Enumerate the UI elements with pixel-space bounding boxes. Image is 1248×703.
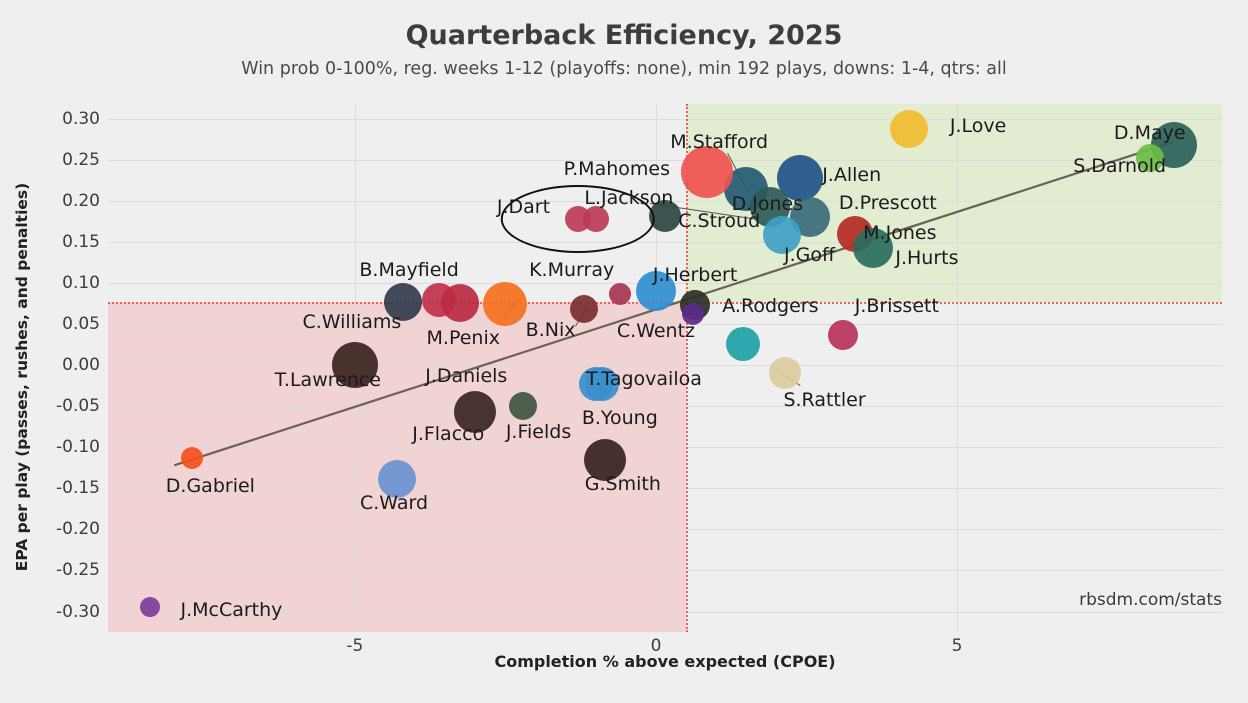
scatter-point[interactable] <box>140 597 160 617</box>
y-tick-label: -0.25 <box>20 560 100 580</box>
scatter-point[interactable] <box>378 460 416 498</box>
scatter-point[interactable] <box>636 271 676 311</box>
plot-area: J.LoveD.MayeS.DarnoldM.StaffordJ.AllenP.… <box>108 104 1222 632</box>
scatter-point[interactable] <box>682 303 704 325</box>
scatter-point[interactable] <box>726 327 760 361</box>
x-tick-label: 5 <box>952 636 963 656</box>
scatter-point[interactable] <box>384 283 422 321</box>
scatter-point[interactable] <box>769 357 801 389</box>
chart-root: Quarterback Efficiency, 2025 Win prob 0-… <box>0 0 1248 703</box>
chart-title: Quarterback Efficiency, 2025 <box>0 20 1248 51</box>
scatter-point[interactable] <box>441 284 479 322</box>
scatter-point[interactable] <box>609 283 631 305</box>
y-tick-label: -0.10 <box>20 437 100 457</box>
y-tick-label: -0.05 <box>20 396 100 416</box>
scatter-point[interactable] <box>570 295 598 323</box>
y-tick-label: 0.00 <box>20 355 100 375</box>
x-tick-label: -5 <box>346 636 363 656</box>
scatter-point[interactable] <box>579 367 613 401</box>
y-tick-label: -0.15 <box>20 478 100 498</box>
y-tick-label: -0.20 <box>20 519 100 539</box>
scatter-point[interactable] <box>584 439 626 481</box>
y-tick-label: 0.05 <box>20 314 100 334</box>
scatter-point[interactable] <box>681 146 733 198</box>
scatter-point[interactable] <box>828 320 858 350</box>
scatter-point[interactable] <box>763 216 801 254</box>
x-axis-label: Completion % above expected (CPOE) <box>108 652 1222 671</box>
scatter-point[interactable] <box>853 228 893 268</box>
chart-subtitle: Win prob 0-100%, reg. weeks 1-12 (playof… <box>0 59 1248 79</box>
watermark: rbsdm.com/stats <box>1079 590 1222 610</box>
y-tick-label: 0.30 <box>20 109 100 129</box>
scatter-point[interactable] <box>332 342 378 388</box>
y-tick-label: 0.15 <box>20 232 100 252</box>
scatter-point[interactable] <box>181 447 203 469</box>
scatter-point[interactable] <box>1136 144 1164 172</box>
y-tick-label: -0.30 <box>20 602 100 622</box>
y-tick-label: 0.25 <box>20 150 100 170</box>
scatter-point[interactable] <box>509 392 537 420</box>
scatter-point[interactable] <box>483 282 527 326</box>
trend-line <box>108 104 1222 632</box>
y-tick-label: 0.10 <box>20 273 100 293</box>
y-tick-label: 0.20 <box>20 191 100 211</box>
scatter-point[interactable] <box>890 110 928 148</box>
highlight-ellipse-shape <box>500 185 655 253</box>
x-tick-label: 0 <box>651 636 662 656</box>
scatter-point[interactable] <box>454 391 496 433</box>
